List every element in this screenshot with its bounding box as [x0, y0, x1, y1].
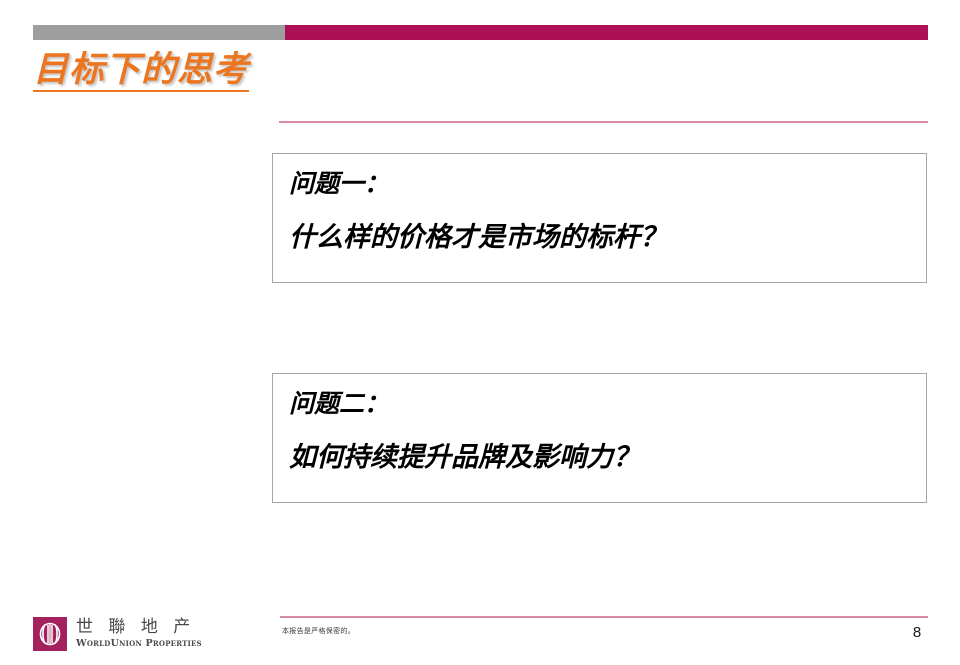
header-accent-bar-crimson: [285, 25, 928, 40]
question-one-label: 问题一：: [289, 168, 910, 199]
page-number: 8: [905, 624, 929, 641]
company-logo: 世 聯 地 产 WorldUnion Properties: [33, 617, 202, 651]
footer-divider-line: [280, 616, 928, 618]
question-one-text: 什么样的价格才是市场的标杆？: [289, 221, 910, 255]
logo-wordmark: 世 聯 地 产 WorldUnion Properties: [76, 619, 202, 649]
logo-english-name: WorldUnion Properties: [76, 639, 202, 649]
slide-page: { "slide": { "title": "目标下的思考", "page_nu…: [0, 0, 960, 665]
logo-chinese-name: 世 聯 地 产: [76, 619, 202, 636]
question-two-text: 如何持续提升品牌及影响力？: [289, 441, 910, 475]
question-box-one: 问题一： 什么样的价格才是市场的标杆？: [272, 153, 927, 283]
worldunion-emblem-icon: [33, 617, 67, 651]
header-divider-line: [279, 121, 928, 123]
question-two-label: 问题二：: [289, 388, 910, 419]
question-box-two: 问题二： 如何持续提升品牌及影响力？: [272, 373, 927, 503]
header-accent-bar-gray: [33, 25, 285, 40]
page-title: 目标下的思考: [33, 53, 249, 92]
confidentiality-note: 本报告是严格保密的。: [282, 626, 355, 636]
